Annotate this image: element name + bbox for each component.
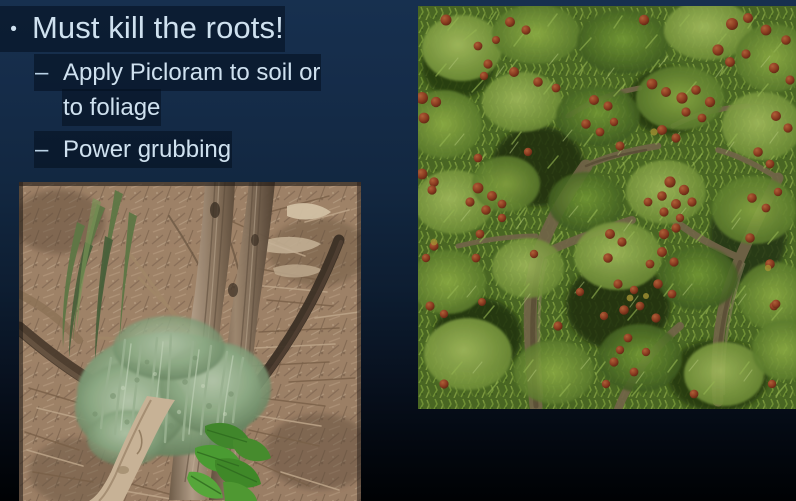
juniper-tree-photo bbox=[418, 6, 796, 409]
juniper-tree-image bbox=[418, 6, 796, 409]
sub-bullet-1-line-1: Apply Picloram to soil or bbox=[63, 54, 320, 91]
slide-canvas: •Must kill the roots! –Apply Picloram to… bbox=[0, 0, 796, 501]
dash-bullet-icon: – bbox=[35, 131, 63, 168]
sub-bullet-1-line-2: to foliage bbox=[63, 89, 160, 126]
juniper-regrowth-image bbox=[19, 182, 361, 501]
page-title: Must kill the roots! bbox=[32, 10, 284, 45]
title-line: •Must kill the roots! bbox=[0, 6, 285, 50]
juniper-regrowth-photo bbox=[19, 182, 361, 501]
sub-bullet-item-1: –Apply Picloram to soil or bbox=[34, 54, 321, 91]
sub-bullet-item-1-wrap: to foliage bbox=[62, 89, 161, 126]
sub-bullet-item-2: –Power grubbing bbox=[34, 131, 232, 168]
bullet-icon: • bbox=[0, 8, 17, 52]
dash-bullet-icon: – bbox=[35, 54, 63, 91]
sub-bullet-2-line-1: Power grubbing bbox=[63, 131, 231, 168]
